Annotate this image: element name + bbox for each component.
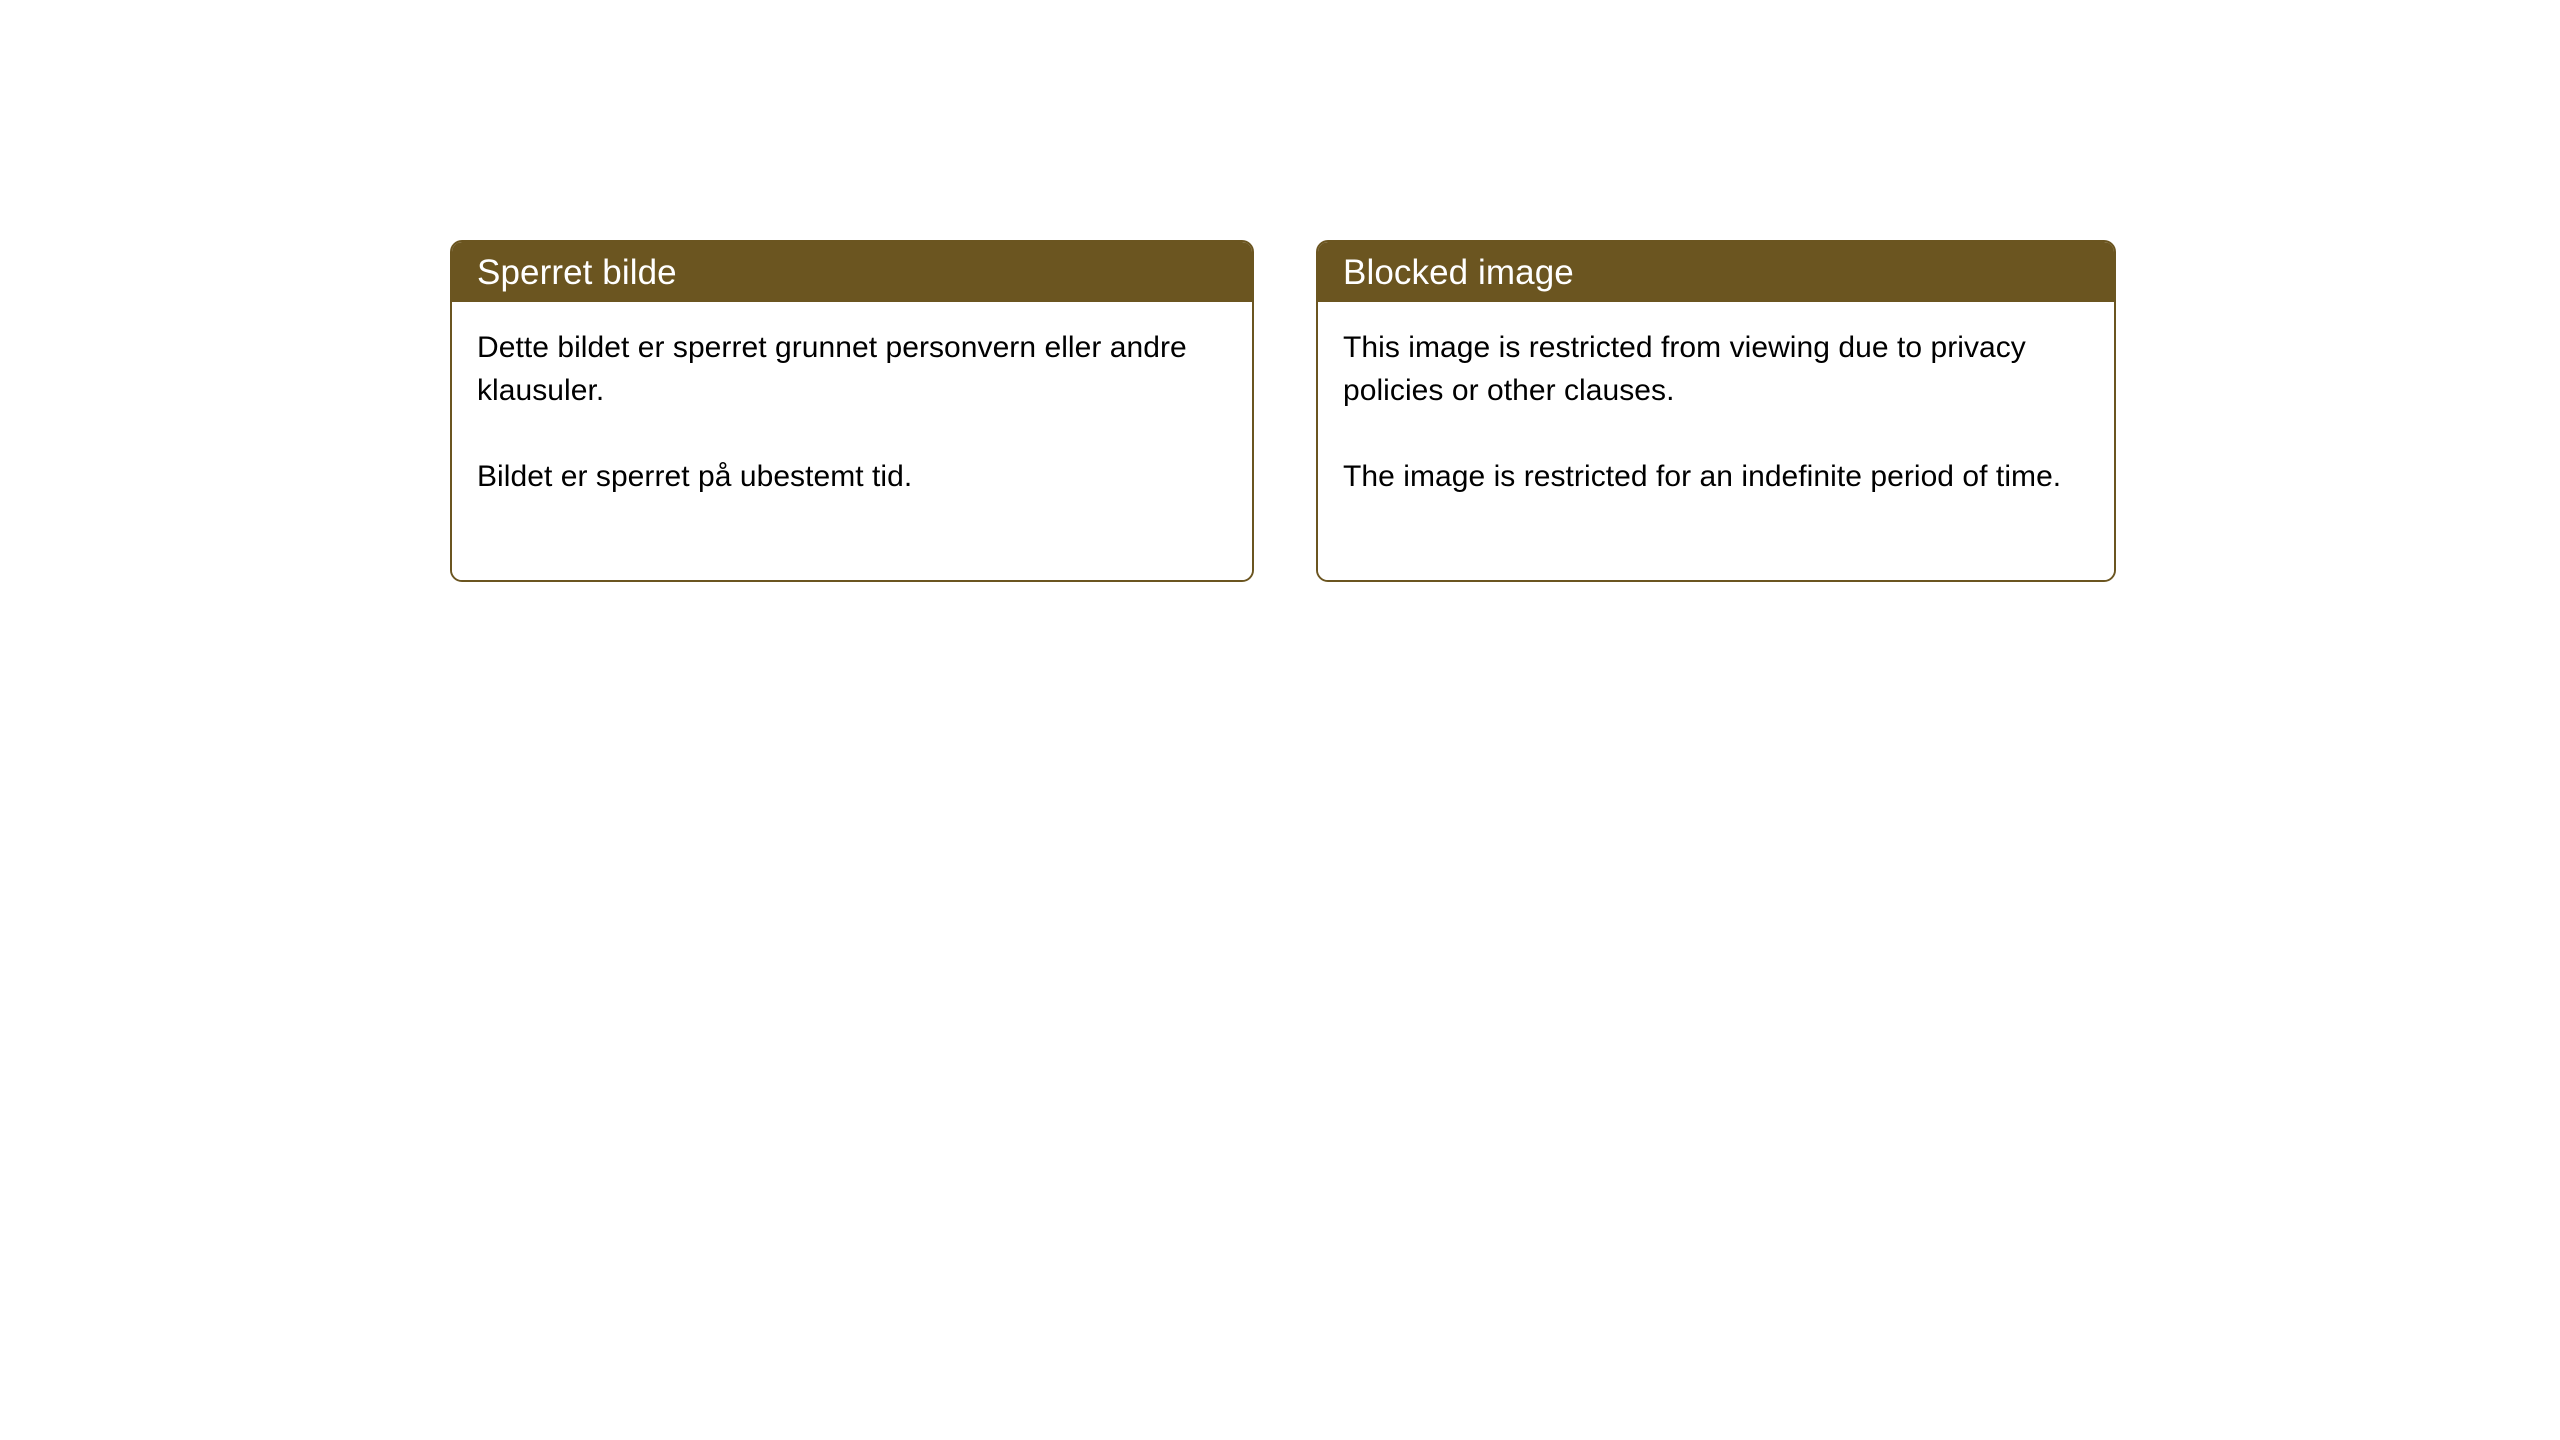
card-paragraph-primary-english: This image is restricted from viewing du…	[1343, 326, 2094, 412]
page-root: Sperret bilde Dette bildet er sperret gr…	[0, 0, 2560, 1440]
card-body-norwegian: Dette bildet er sperret grunnet personve…	[452, 302, 1252, 580]
blocked-image-notice-card-english: Blocked image This image is restricted f…	[1316, 240, 2116, 582]
card-paragraph-primary-norwegian: Dette bildet er sperret grunnet personve…	[477, 326, 1232, 412]
card-paragraph-secondary-norwegian: Bildet er sperret på ubestemt tid.	[477, 455, 1232, 498]
notice-card-group: Sperret bilde Dette bildet er sperret gr…	[450, 240, 2116, 582]
card-header-norwegian: Sperret bilde	[452, 242, 1252, 302]
card-body-english: This image is restricted from viewing du…	[1318, 302, 2114, 580]
card-title-english: Blocked image	[1343, 255, 1574, 290]
card-header-english: Blocked image	[1318, 242, 2114, 302]
card-title-norwegian: Sperret bilde	[477, 255, 677, 290]
card-paragraph-secondary-english: The image is restricted for an indefinit…	[1343, 455, 2094, 498]
blocked-image-notice-card-norwegian: Sperret bilde Dette bildet er sperret gr…	[450, 240, 1254, 582]
